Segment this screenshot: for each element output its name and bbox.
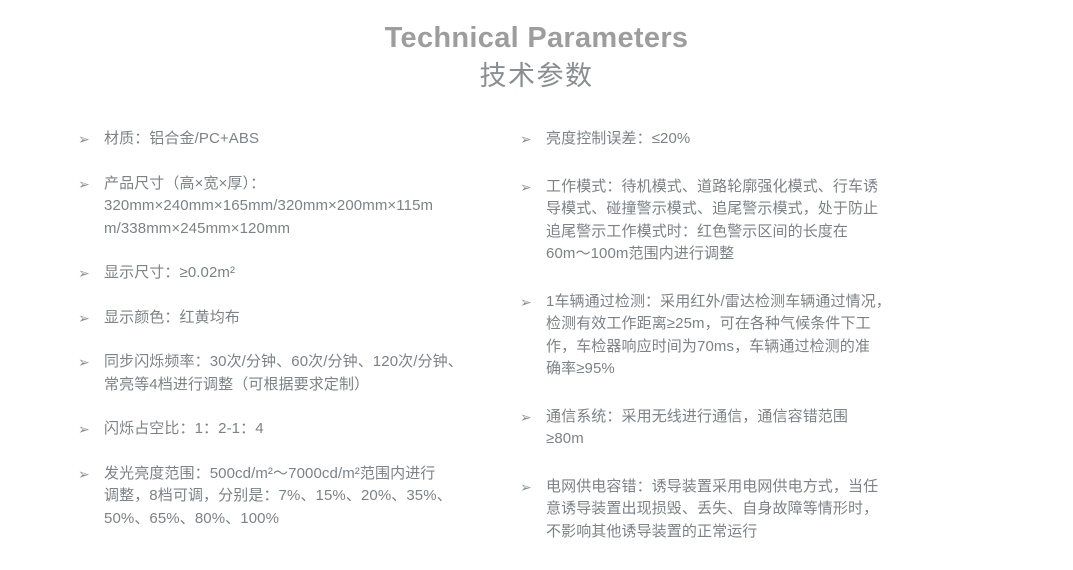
spec-item: ➢ 显示尺寸：≥0.02m²	[78, 262, 500, 285]
spec-item-text: 发光亮度范围：500cd/m²～7000cd/m²范围内进行 调整，8档可调，分…	[104, 463, 500, 531]
technical-parameters-page: Technical Parameters 技术参数 ➢ 材质：铝合金/PC+AB…	[0, 0, 1073, 570]
spec-item: ➢ 工作模式：待机模式、道路轮廓强化模式、行车诱 导模式、碰撞警示模式、追尾警示…	[520, 176, 1013, 266]
spec-item: ➢ 同步闪烁频率：30次/分钟、60次/分钟、120次/分钟、 常亮等4档进行调…	[78, 351, 500, 396]
spec-item: ➢ 发光亮度范围：500cd/m²～7000cd/m²范围内进行 调整，8档可调…	[78, 463, 500, 531]
spec-list-left: ➢ 材质：铝合金/PC+ABS ➢ 产品尺寸（高×宽×厚）： 320mm×240…	[78, 128, 500, 530]
arrow-bullet-icon: ➢	[78, 173, 96, 196]
spec-item-text: 闪烁占空比：1：2-1：4	[104, 418, 500, 441]
arrow-bullet-icon: ➢	[78, 418, 96, 441]
spec-item: ➢ 材质：铝合金/PC+ABS	[78, 128, 500, 151]
spec-item: ➢ 闪烁占空比：1：2-1：4	[78, 418, 500, 441]
arrow-bullet-icon: ➢	[520, 176, 538, 199]
spec-columns: ➢ 材质：铝合金/PC+ABS ➢ 产品尺寸（高×宽×厚）： 320mm×240…	[0, 128, 1073, 568]
spec-item: ➢ 电网供电容错：诱导装置采用电网供电方式，当任 意诱导装置出现损毁、丢失、自身…	[520, 476, 1013, 544]
spec-column-right: ➢ 亮度控制误差：≤20% ➢ 工作模式：待机模式、道路轮廓强化模式、行车诱 导…	[500, 128, 1013, 568]
arrow-bullet-icon: ➢	[78, 307, 96, 330]
page-title-chinese: 技术参数	[0, 59, 1073, 94]
spec-item: ➢ 亮度控制误差：≤20%	[520, 128, 1013, 151]
spec-item-text: 工作模式：待机模式、道路轮廓强化模式、行车诱 导模式、碰撞警示模式、追尾警示模式…	[546, 176, 1013, 266]
spec-item-text: 1车辆通过检测：采用红外/雷达检测车辆通过情况， 检测有效工作距离≥25m，可在…	[546, 291, 1013, 381]
page-title-english: Technical Parameters	[0, 22, 1073, 55]
arrow-bullet-icon: ➢	[520, 128, 538, 151]
spec-item: ➢ 1车辆通过检测：采用红外/雷达检测车辆通过情况， 检测有效工作距离≥25m，…	[520, 291, 1013, 381]
page-header: Technical Parameters 技术参数	[0, 0, 1073, 94]
spec-column-left: ➢ 材质：铝合金/PC+ABS ➢ 产品尺寸（高×宽×厚）： 320mm×240…	[0, 128, 500, 552]
spec-item: ➢ 产品尺寸（高×宽×厚）： 320mm×240mm×165mm/320mm×2…	[78, 173, 500, 241]
spec-item-text: 材质：铝合金/PC+ABS	[104, 128, 500, 151]
spec-item-text: 同步闪烁频率：30次/分钟、60次/分钟、120次/分钟、 常亮等4档进行调整（…	[104, 351, 500, 396]
arrow-bullet-icon: ➢	[520, 291, 538, 314]
arrow-bullet-icon: ➢	[520, 406, 538, 429]
spec-item-text: 亮度控制误差：≤20%	[546, 128, 1013, 151]
spec-item: ➢ 显示颜色：红黄均布	[78, 307, 500, 330]
spec-item-text: 显示尺寸：≥0.02m²	[104, 262, 500, 285]
spec-item-text: 显示颜色：红黄均布	[104, 307, 500, 330]
spec-item-text: 通信系统：采用无线进行通信，通信容错范围 ≥80m	[546, 406, 1013, 451]
spec-item-text: 电网供电容错：诱导装置采用电网供电方式，当任 意诱导装置出现损毁、丢失、自身故障…	[546, 476, 1013, 544]
arrow-bullet-icon: ➢	[78, 351, 96, 374]
spec-item-text: 产品尺寸（高×宽×厚）： 320mm×240mm×165mm/320mm×200…	[104, 173, 500, 241]
spec-item: ➢ 通信系统：采用无线进行通信，通信容错范围 ≥80m	[520, 406, 1013, 451]
arrow-bullet-icon: ➢	[78, 262, 96, 285]
arrow-bullet-icon: ➢	[78, 463, 96, 486]
arrow-bullet-icon: ➢	[78, 128, 96, 151]
spec-list-right: ➢ 亮度控制误差：≤20% ➢ 工作模式：待机模式、道路轮廓强化模式、行车诱 导…	[520, 128, 1013, 543]
arrow-bullet-icon: ➢	[520, 476, 538, 499]
